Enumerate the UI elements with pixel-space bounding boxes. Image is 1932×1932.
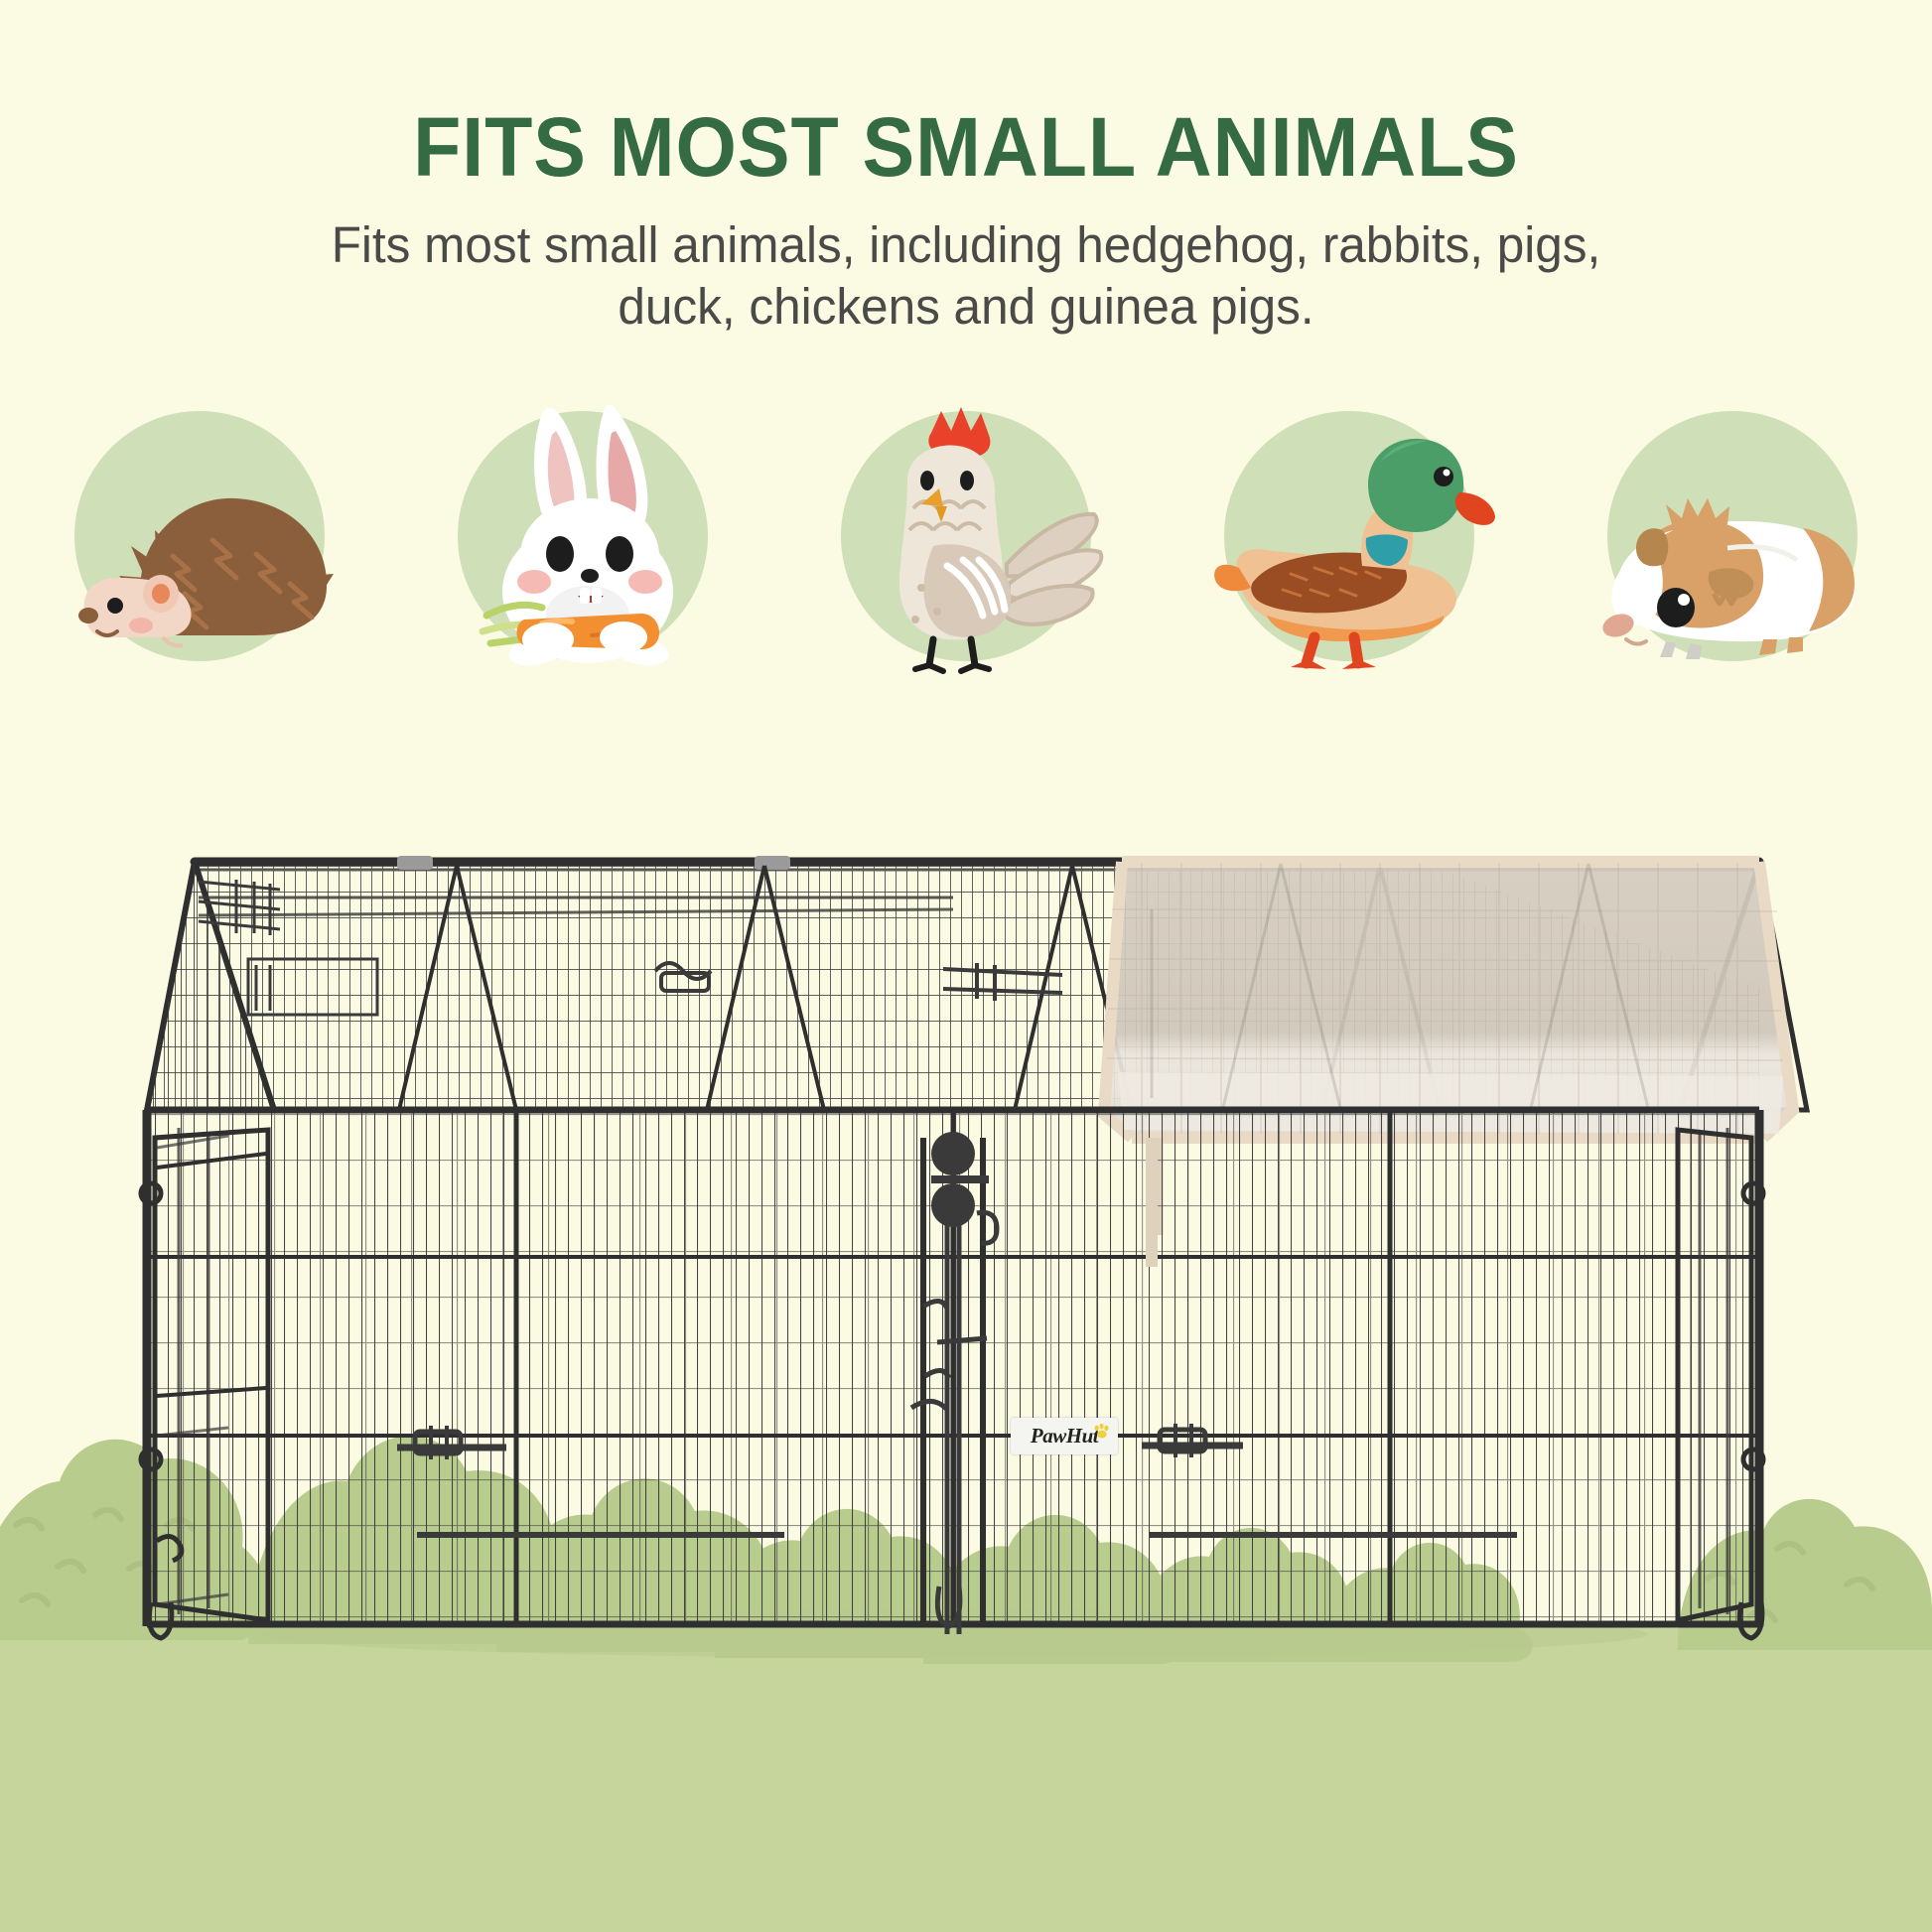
product-photo-scene [0,840,1932,1932]
ground [0,1617,1932,1932]
brand-label: PawHut [1011,1418,1118,1454]
header-block: FITS MOST SMALL ANIMALS Fits most small … [0,0,1932,338]
gate-knob-top[interactable] [931,1132,975,1175]
subtitle-line-2: duck, chickens and guinea pigs. [311,276,1620,338]
ridge-connector [397,856,433,870]
animal-icon-strip [0,389,1932,687]
chicken-icon [812,389,1120,677]
rabbit-icon [429,389,737,677]
animal-cell-chicken [812,389,1120,677]
brand-name: PawHut [1031,1426,1098,1447]
marketing-banner: FITS MOST SMALL ANIMALS Fits most small … [0,0,1932,1932]
page-title: FITS MOST SMALL ANIMALS [58,105,1873,189]
animal-cell-duck [1195,389,1503,677]
hedgehog-icon [46,389,353,677]
duck-icon [1195,389,1503,677]
animal-cell-rabbit [429,389,737,677]
page-subtitle: Fits most small animals, including hedge… [311,214,1620,338]
subtitle-line-1: Fits most small animals, including hedge… [311,214,1620,276]
gate-knob-mid[interactable] [931,1183,975,1227]
product-scene-svg [0,840,1932,1932]
animal-cell-guinea-pig [1579,389,1886,677]
animal-cell-hedgehog [46,389,353,677]
paw-print-icon [1093,1424,1111,1440]
guinea-pig-icon [1579,389,1886,677]
ridge-connector [755,856,790,870]
